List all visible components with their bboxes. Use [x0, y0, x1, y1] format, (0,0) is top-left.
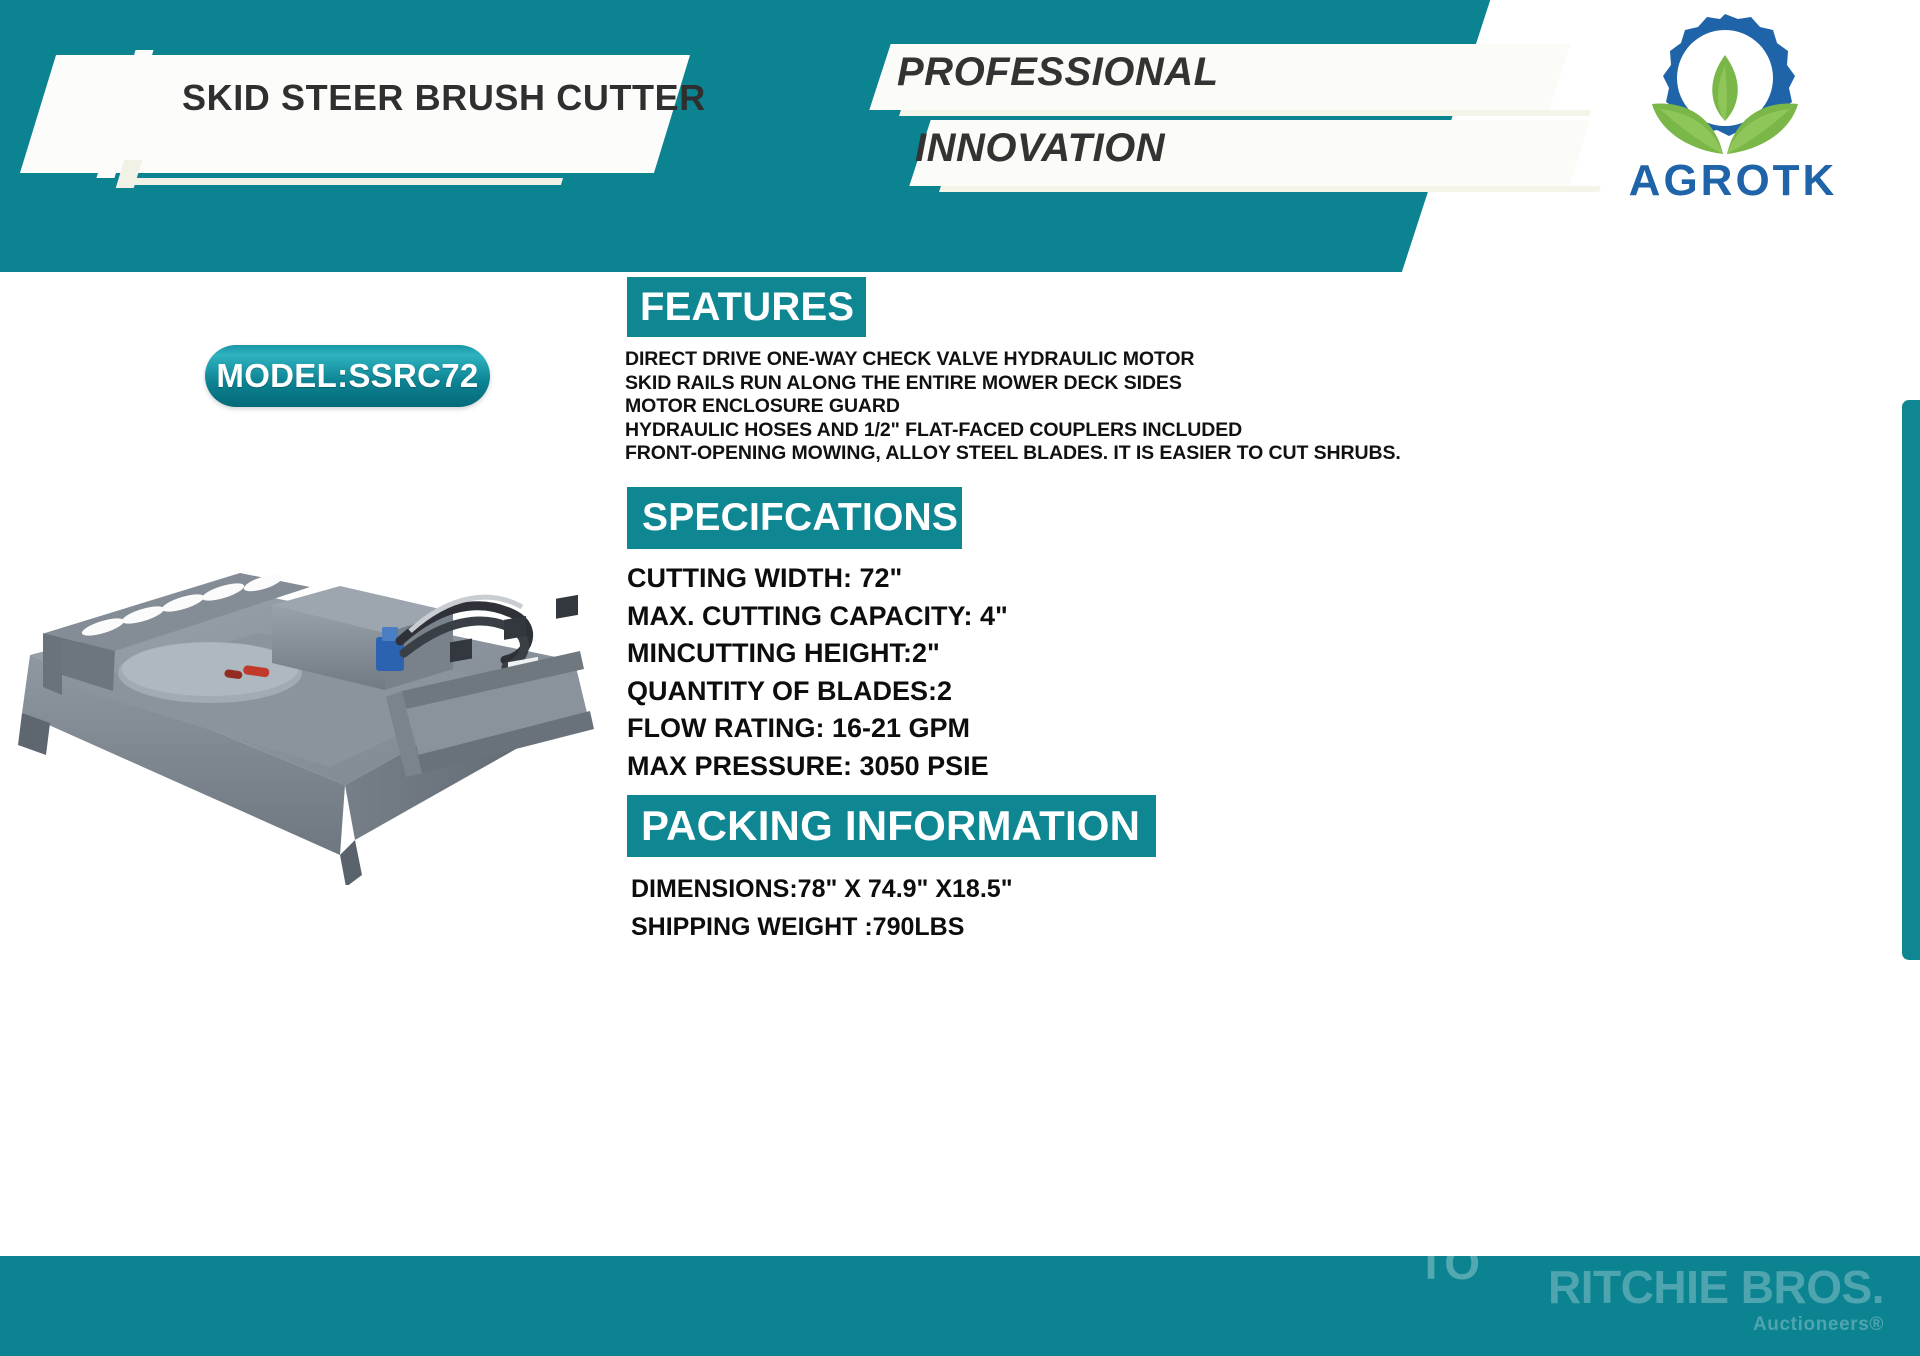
packing-item: SHIPPING WEIGHT :790LBS	[631, 908, 1251, 946]
specifications-list: CUTTING WIDTH: 72" MAX. CUTTING CAPACITY…	[627, 560, 1247, 785]
right-edge-accent	[1902, 400, 1920, 960]
title-underline	[131, 178, 563, 185]
feature-item: SKID RAILS RUN ALONG THE ENTIRE MOWER DE…	[625, 372, 1405, 396]
watermark-subtitle: Auctioneers®	[1548, 1315, 1884, 1334]
model-badge: MODEL:SSRC72	[205, 345, 490, 407]
spec-item: MINCUTTING HEIGHT:2"	[627, 635, 1247, 673]
gear-leaf-logo-icon	[1620, 8, 1830, 156]
slogan-strip-2	[939, 186, 1601, 192]
watermark: RITCHIE BROS. Auctioneers®	[1548, 1264, 1884, 1334]
feature-item: DIRECT DRIVE ONE-WAY CHECK VALVE HYDRAUL…	[625, 348, 1405, 372]
spec-item: FLOW RATING: 16-21 GPM	[627, 710, 1247, 748]
page-header: SKID STEER BRUSH CUTTER PROFESSIONAL INN…	[0, 0, 1920, 272]
feature-item: FRONT-OPENING MOWING, ALLOY STEEL BLADES…	[625, 442, 1405, 466]
spec-item: QUANTITY OF BLADES:2	[627, 673, 1247, 711]
feature-item: HYDRAULIC HOSES AND 1/2" FLAT-FACED COUP…	[625, 419, 1405, 443]
page-title: SKID STEER BRUSH CUTTER	[182, 77, 706, 119]
specifications-heading: SPECIFCATIONS	[627, 487, 962, 549]
brand-logo: AGROTK	[1578, 8, 1888, 223]
page-footer: TO RITCHIE BROS. Auctioneers®	[0, 1256, 1920, 1356]
spec-item: MAX. CUTTING CAPACITY: 4"	[627, 598, 1247, 636]
features-list: DIRECT DRIVE ONE-WAY CHECK VALVE HYDRAUL…	[625, 348, 1405, 466]
packing-list: DIMENSIONS:78" X 74.9" X18.5" SHIPPING W…	[631, 870, 1251, 946]
features-heading: FEATURES	[627, 277, 866, 337]
watermark-brand: RITCHIE BROS.	[1548, 1264, 1884, 1310]
packing-item: DIMENSIONS:78" X 74.9" X18.5"	[631, 870, 1251, 908]
packing-heading: PACKING INFORMATION	[627, 795, 1156, 857]
slogan-line-2: INNOVATION	[915, 126, 1165, 171]
product-image	[10, 455, 610, 885]
feature-item: MOTOR ENCLOSURE GUARD	[625, 395, 1405, 419]
model-badge-label: MODEL:SSRC72	[205, 345, 490, 407]
spec-item: CUTTING WIDTH: 72"	[627, 560, 1247, 598]
slogan-line-1: PROFESSIONAL	[897, 50, 1219, 95]
slogan-strip-1	[899, 110, 1591, 116]
watermark-prefix: TO	[1417, 1236, 1480, 1290]
brand-name: AGROTK	[1578, 156, 1888, 206]
spec-sheet-page: SKID STEER BRUSH CUTTER PROFESSIONAL INN…	[0, 0, 1920, 1356]
spec-item: MAX PRESSURE: 3050 PSIE	[627, 748, 1247, 786]
